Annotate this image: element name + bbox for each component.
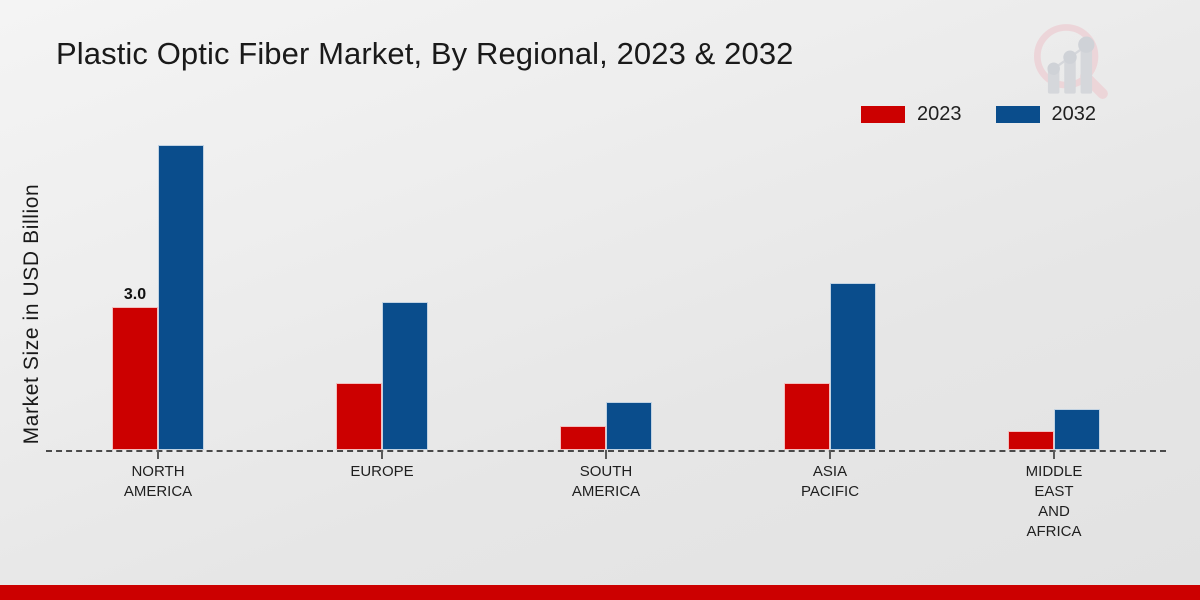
x-axis-category-label: EUROPE <box>350 462 413 482</box>
legend-swatch-2023 <box>861 106 905 123</box>
chart-legend: 2023 2032 <box>861 103 1096 126</box>
bar-2023[interactable]: 3.0 <box>112 307 158 450</box>
legend-label-2032: 2032 <box>1052 103 1097 126</box>
bar-data-label: 3.0 <box>124 286 146 304</box>
bar-2023[interactable] <box>784 383 830 450</box>
bar-pair <box>1008 409 1100 450</box>
x-axis-tick <box>157 450 159 459</box>
legend-item-2023[interactable]: 2023 <box>861 103 962 126</box>
x-axis-tick <box>1053 450 1055 459</box>
bar-groups: 3.0NORTH AMERICAEUROPESOUTH AMERICAASIA … <box>46 140 1166 450</box>
x-axis-tick <box>829 450 831 459</box>
bar-2032[interactable] <box>830 283 876 450</box>
legend-label-2023: 2023 <box>917 103 962 126</box>
bar-group: ASIA PACIFIC <box>718 140 942 450</box>
x-axis-category-label: NORTH AMERICA <box>124 462 192 502</box>
bar-2032[interactable] <box>158 145 204 450</box>
y-axis-label: Market Size in USD Billion <box>20 144 44 484</box>
legend-swatch-2032 <box>996 106 1040 123</box>
bar-2023[interactable] <box>336 383 382 450</box>
x-axis-tick <box>381 450 383 459</box>
bar-group: 3.0NORTH AMERICA <box>46 140 270 450</box>
bar-2023[interactable] <box>560 426 606 450</box>
bar-pair: 3.0 <box>112 145 204 450</box>
x-axis-category-label: SOUTH AMERICA <box>572 462 640 502</box>
watermark-logo <box>1022 14 1118 110</box>
bar-pair <box>784 283 876 450</box>
bar-group: MIDDLE EAST AND AFRICA <box>942 140 1166 450</box>
bar-2032[interactable] <box>606 402 652 450</box>
x-axis-tick <box>605 450 607 459</box>
bar-2032[interactable] <box>382 302 428 450</box>
bar-2023[interactable] <box>1008 431 1054 450</box>
x-axis-category-label: MIDDLE EAST AND AFRICA <box>1026 462 1083 542</box>
legend-item-2032[interactable]: 2032 <box>996 103 1097 126</box>
bar-group: EUROPE <box>270 140 494 450</box>
x-axis-category-label: ASIA PACIFIC <box>801 462 859 502</box>
footer-accent-strip <box>0 585 1200 600</box>
plot-area: 3.0NORTH AMERICAEUROPESOUTH AMERICAASIA … <box>46 140 1166 452</box>
bar-pair <box>560 402 652 450</box>
bar-group: SOUTH AMERICA <box>494 140 718 450</box>
bar-2032[interactable] <box>1054 409 1100 450</box>
chart-title: Plastic Optic Fiber Market, By Regional,… <box>56 36 794 72</box>
bar-pair <box>336 302 428 450</box>
